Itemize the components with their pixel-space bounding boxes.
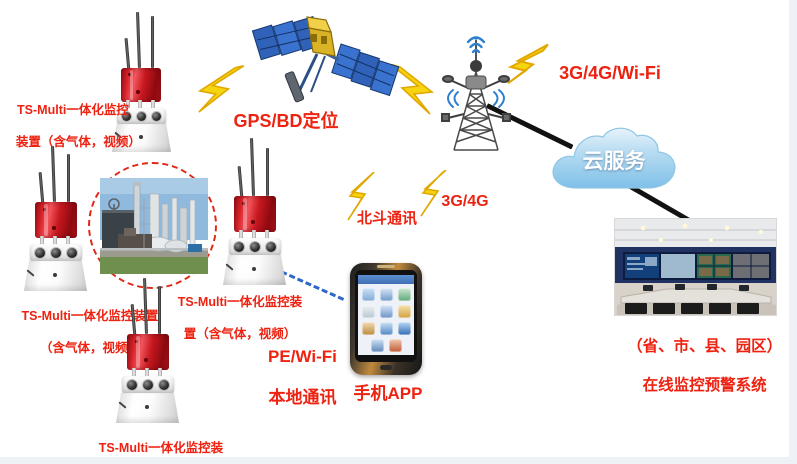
app-icon[interactable]: [362, 288, 375, 301]
gps-link-label: GPS/BD定位: [222, 110, 350, 133]
device-sensor-ring: [229, 238, 281, 256]
mobile-device[interactable]: [350, 263, 422, 375]
monitoring-center-label: （省、市、县、园区） 在线监控预警系统: [600, 318, 789, 415]
app-icon[interactable]: [398, 322, 411, 335]
phone-speaker: [377, 265, 395, 268]
backhaul-link-label: 3G/4G/Wi-Fi: [544, 62, 676, 85]
device-sensor-ring: [30, 244, 82, 262]
phone-screen[interactable]: [358, 275, 414, 355]
app-icon[interactable]: [371, 339, 384, 352]
antenna: [136, 12, 141, 68]
beidou-link-label: 北斗通讯: [345, 209, 429, 228]
antenna: [67, 154, 70, 202]
app-icon-grid[interactable]: [358, 286, 414, 354]
antenna: [125, 38, 131, 72]
antenna: [250, 138, 255, 196]
cell-tower-icon: [424, 22, 528, 157]
app-icon[interactable]: [398, 288, 411, 301]
antenna: [39, 172, 45, 205]
cloud-service-label: 云服务: [566, 145, 662, 175]
device-center: [215, 138, 307, 290]
phone-home-button[interactable]: [380, 365, 392, 370]
app-icon[interactable]: [398, 305, 411, 318]
device-bottom-left: [108, 278, 200, 428]
app-icon[interactable]: [389, 339, 402, 352]
app-icon[interactable]: [380, 322, 393, 335]
device-bottom-left-label: TS-Multi一体化监控装 置（含气体，视频）: [78, 424, 230, 457]
mobile-app-label: 手机APP: [345, 383, 431, 405]
industrial-plant-photo: [100, 178, 208, 274]
device-body: [35, 202, 77, 238]
satellite-icon: [247, 8, 407, 110]
antenna: [266, 148, 269, 196]
plant-photo-circle: [88, 162, 217, 289]
antenna: [238, 166, 244, 198]
antenna: [51, 146, 56, 202]
antenna: [151, 16, 154, 68]
antenna: [158, 286, 161, 334]
device-mid-left: [14, 146, 106, 298]
device-body: [234, 196, 276, 232]
cellular-link-label: 3G/4G: [432, 192, 498, 212]
app-icon[interactable]: [380, 305, 393, 318]
phone-status-bar: [358, 275, 414, 284]
monitoring-center-photo: [614, 218, 777, 316]
local-link-label: PE/Wi-Fi 本地通讯: [238, 326, 348, 430]
app-icon[interactable]: [380, 288, 393, 301]
device-sensor-ring: [122, 376, 174, 394]
device-body: [127, 334, 169, 370]
app-icon[interactable]: [362, 322, 375, 335]
diagram-canvas: 云服务: [0, 0, 789, 457]
app-icon[interactable]: [362, 305, 375, 318]
antenna: [143, 278, 148, 334]
antenna: [131, 304, 137, 336]
